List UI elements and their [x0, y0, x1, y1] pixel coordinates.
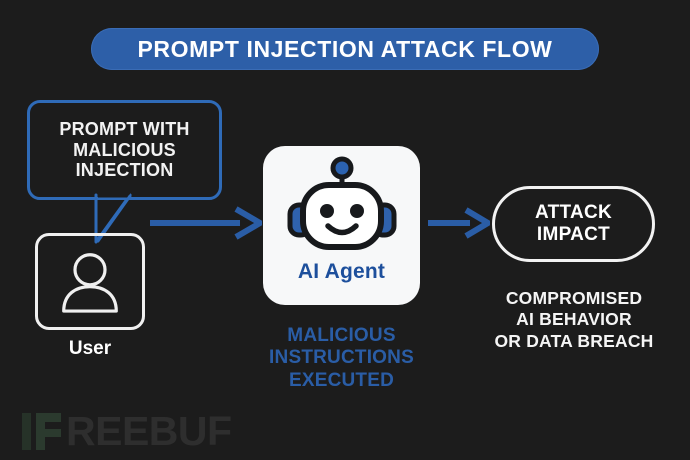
impact-detail-line-1: COMPROMISED	[463, 288, 685, 309]
watermark-text: REEBUF	[66, 411, 232, 452]
arrow-user-to-agent-icon	[148, 206, 262, 240]
malicious-instructions-caption: MALICIOUS INSTRUCTIONS EXECUTED	[243, 325, 440, 392]
malicious-caption-line-3: EXECUTED	[243, 370, 440, 392]
prompt-bubble-line-1: PROMPT WITH	[59, 119, 189, 140]
page-title-banner: PROMPT INJECTION ATTACK FLOW	[91, 28, 599, 70]
page-title: PROMPT INJECTION ATTACK FLOW	[137, 36, 552, 63]
user-label: User	[35, 338, 145, 360]
malicious-caption-line-1: MALICIOUS	[243, 325, 440, 347]
diagram-canvas: PROMPT INJECTION ATTACK FLOW PROMPT WITH…	[0, 0, 690, 460]
user-person-icon	[38, 236, 142, 327]
prompt-bubble-text: PROMPT WITH MALICIOUS INJECTION	[59, 119, 189, 182]
malicious-caption-line-2: INSTRUCTIONS	[243, 347, 440, 369]
attack-impact-line-2: IMPACT	[535, 224, 612, 246]
attack-impact-detail: COMPROMISED AI BEHAVIOR OR DATA BREACH	[463, 288, 685, 352]
ai-agent-card: AI Agent	[263, 146, 420, 305]
watermark-bar-left	[22, 413, 31, 450]
attack-impact-node: ATTACK IMPACT	[492, 186, 655, 262]
impact-detail-line-3: OR DATA BREACH	[463, 331, 685, 352]
prompt-speech-bubble: PROMPT WITH MALICIOUS INJECTION	[27, 100, 222, 200]
user-icon-frame	[35, 233, 145, 330]
freebuf-watermark: REEBUF	[20, 408, 232, 454]
attack-impact-line-1: ATTACK	[535, 202, 612, 224]
robot-head-icon	[282, 155, 402, 260]
impact-detail-line-2: AI BEHAVIOR	[463, 309, 685, 330]
prompt-bubble-line-2: MALICIOUS	[59, 140, 189, 161]
arrow-agent-to-impact-icon	[428, 206, 490, 240]
attack-impact-text: ATTACK IMPACT	[535, 202, 612, 246]
ai-agent-label: AI Agent	[263, 260, 420, 284]
freebuf-logo-icon	[20, 410, 62, 452]
prompt-bubble-line-3: INJECTION	[59, 160, 189, 181]
watermark-bar-f	[36, 413, 61, 450]
